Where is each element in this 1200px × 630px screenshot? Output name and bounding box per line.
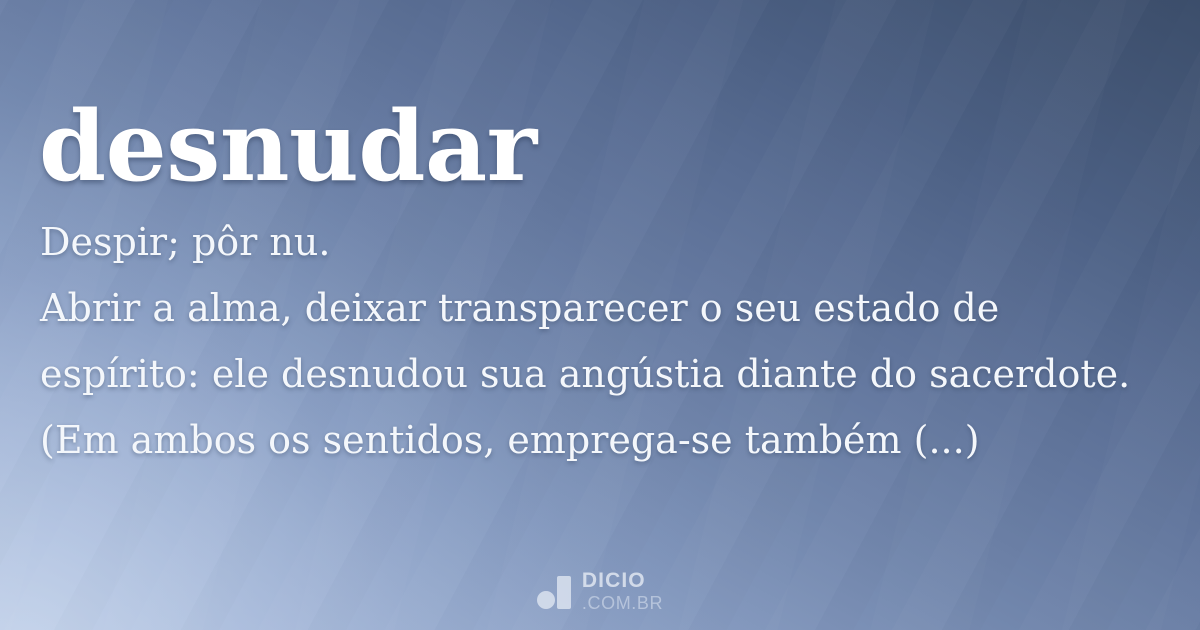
dicio-logo: DICIO .COM.BR: [0, 570, 1200, 612]
logo-rectangle-shape: [557, 576, 571, 609]
og-preview-card: desnudar Despir; pôr nu. Abrir a alma, d…: [0, 0, 1200, 630]
definition-text: Despir; pôr nu. Abrir a alma, deixar tra…: [40, 209, 1170, 473]
dicio-square-dot-logo-icon: [537, 573, 571, 609]
definition-sense-1: Despir; pôr nu.: [40, 209, 1170, 275]
logo-wordmark: DICIO .COM.BR: [582, 570, 663, 612]
definition-sense-2: Abrir a alma, deixar transparecer o seu …: [40, 275, 1170, 473]
logo-brand-name: DICIO: [582, 570, 663, 591]
card-content: desnudar Despir; pôr nu. Abrir a alma, d…: [0, 0, 1200, 630]
logo-domain-suffix: .COM.BR: [582, 594, 663, 612]
logo-circle-shape: [537, 591, 555, 609]
page-title: desnudar: [39, 97, 537, 198]
